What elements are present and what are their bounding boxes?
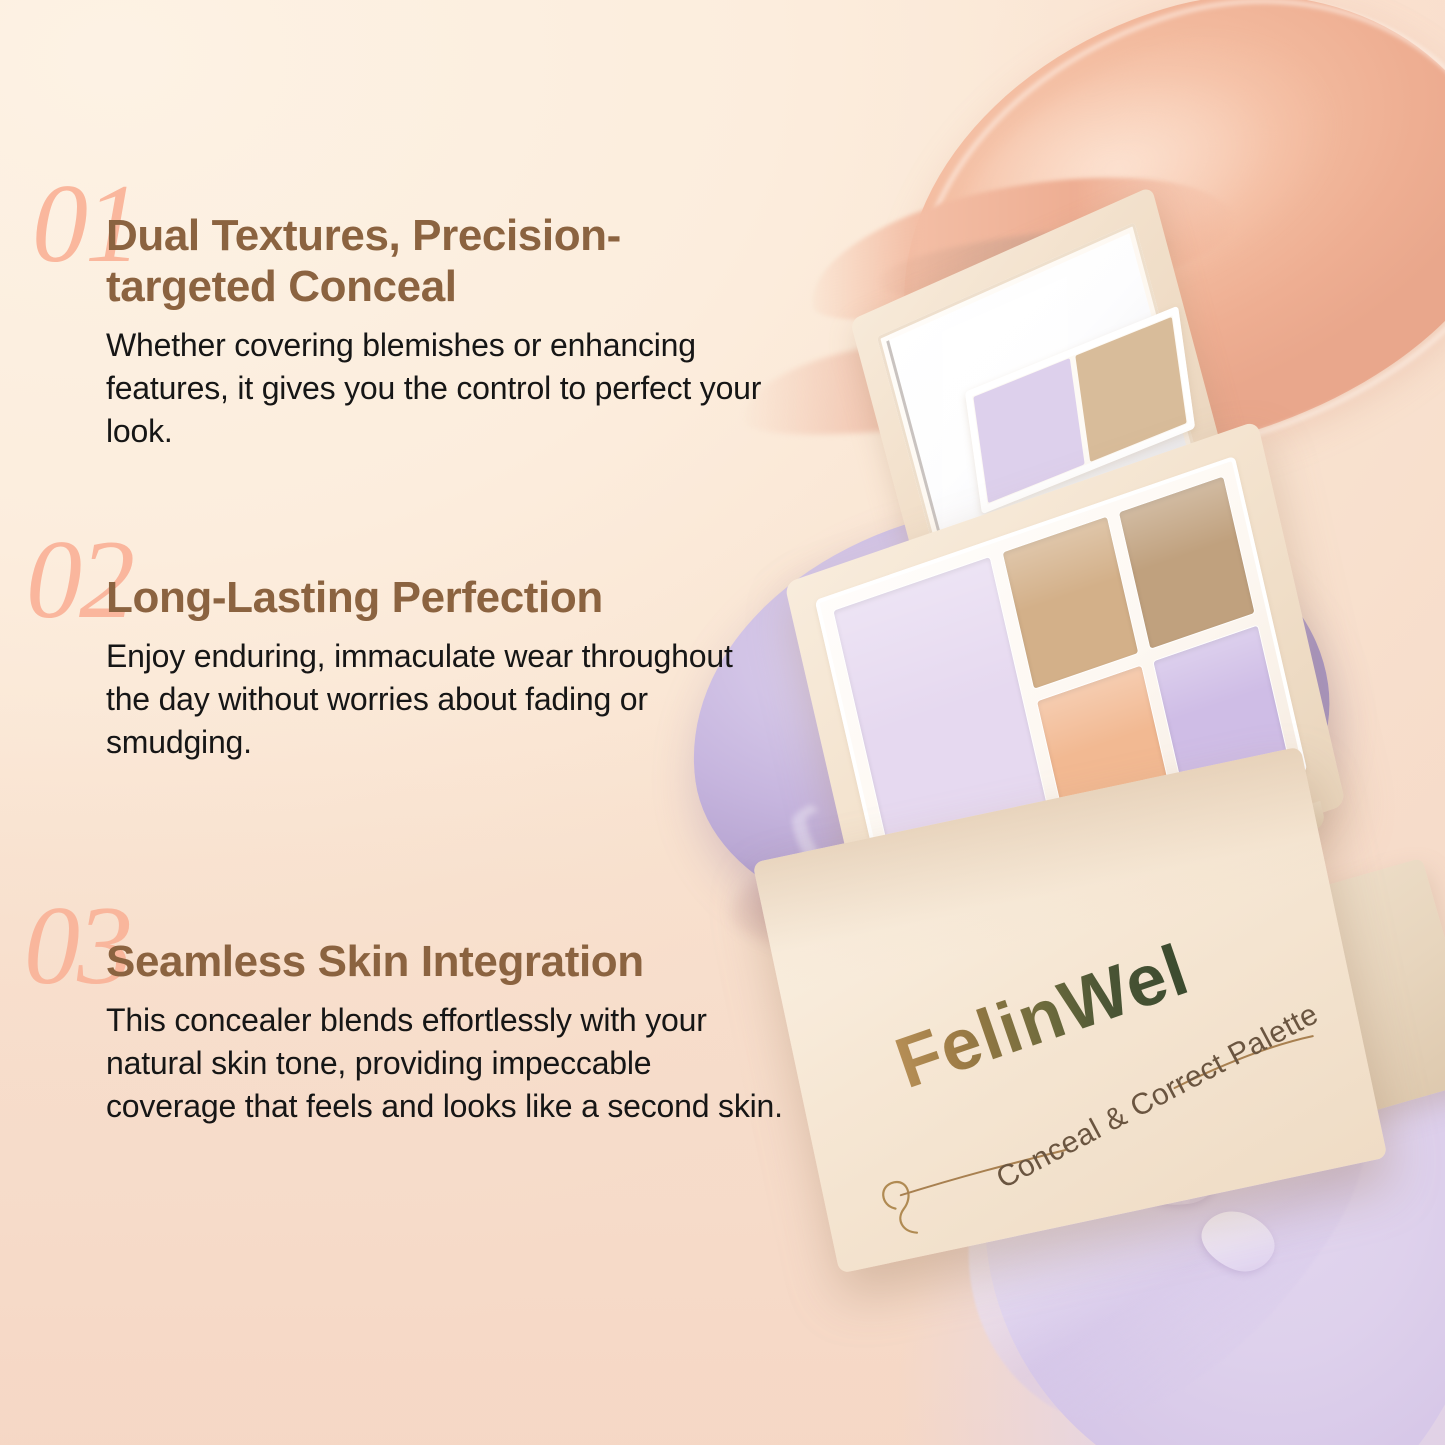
feature-body-03: This concealer blends effortlessly with … [106,999,786,1129]
feature-body-01: Whether covering blemishes or enhancing … [106,324,766,454]
feature-list: 01 Dual Textures, Precision-targeted Con… [0,0,790,1445]
feature-heading-03: Seamless Skin Integration [106,936,786,987]
feature-text-01: Dual Textures, Precision-targeted Concea… [106,210,766,454]
feature-heading-01: Dual Textures, Precision-targeted Concea… [106,210,766,312]
tan-concealer-pan[interactable] [1003,517,1138,689]
feature-text-02: Long-Lasting Perfection Enjoy enduring, … [106,572,766,765]
feature-text-03: Seamless Skin Integration This concealer… [106,936,786,1129]
feature-heading-02: Long-Lasting Perfection [106,572,766,623]
product-feature-poster: 01 Dual Textures, Precision-targeted Con… [0,0,1445,1445]
feature-body-02: Enjoy enduring, immaculate wear througho… [106,635,766,765]
deep-tan-contour-pan[interactable] [1119,477,1254,649]
